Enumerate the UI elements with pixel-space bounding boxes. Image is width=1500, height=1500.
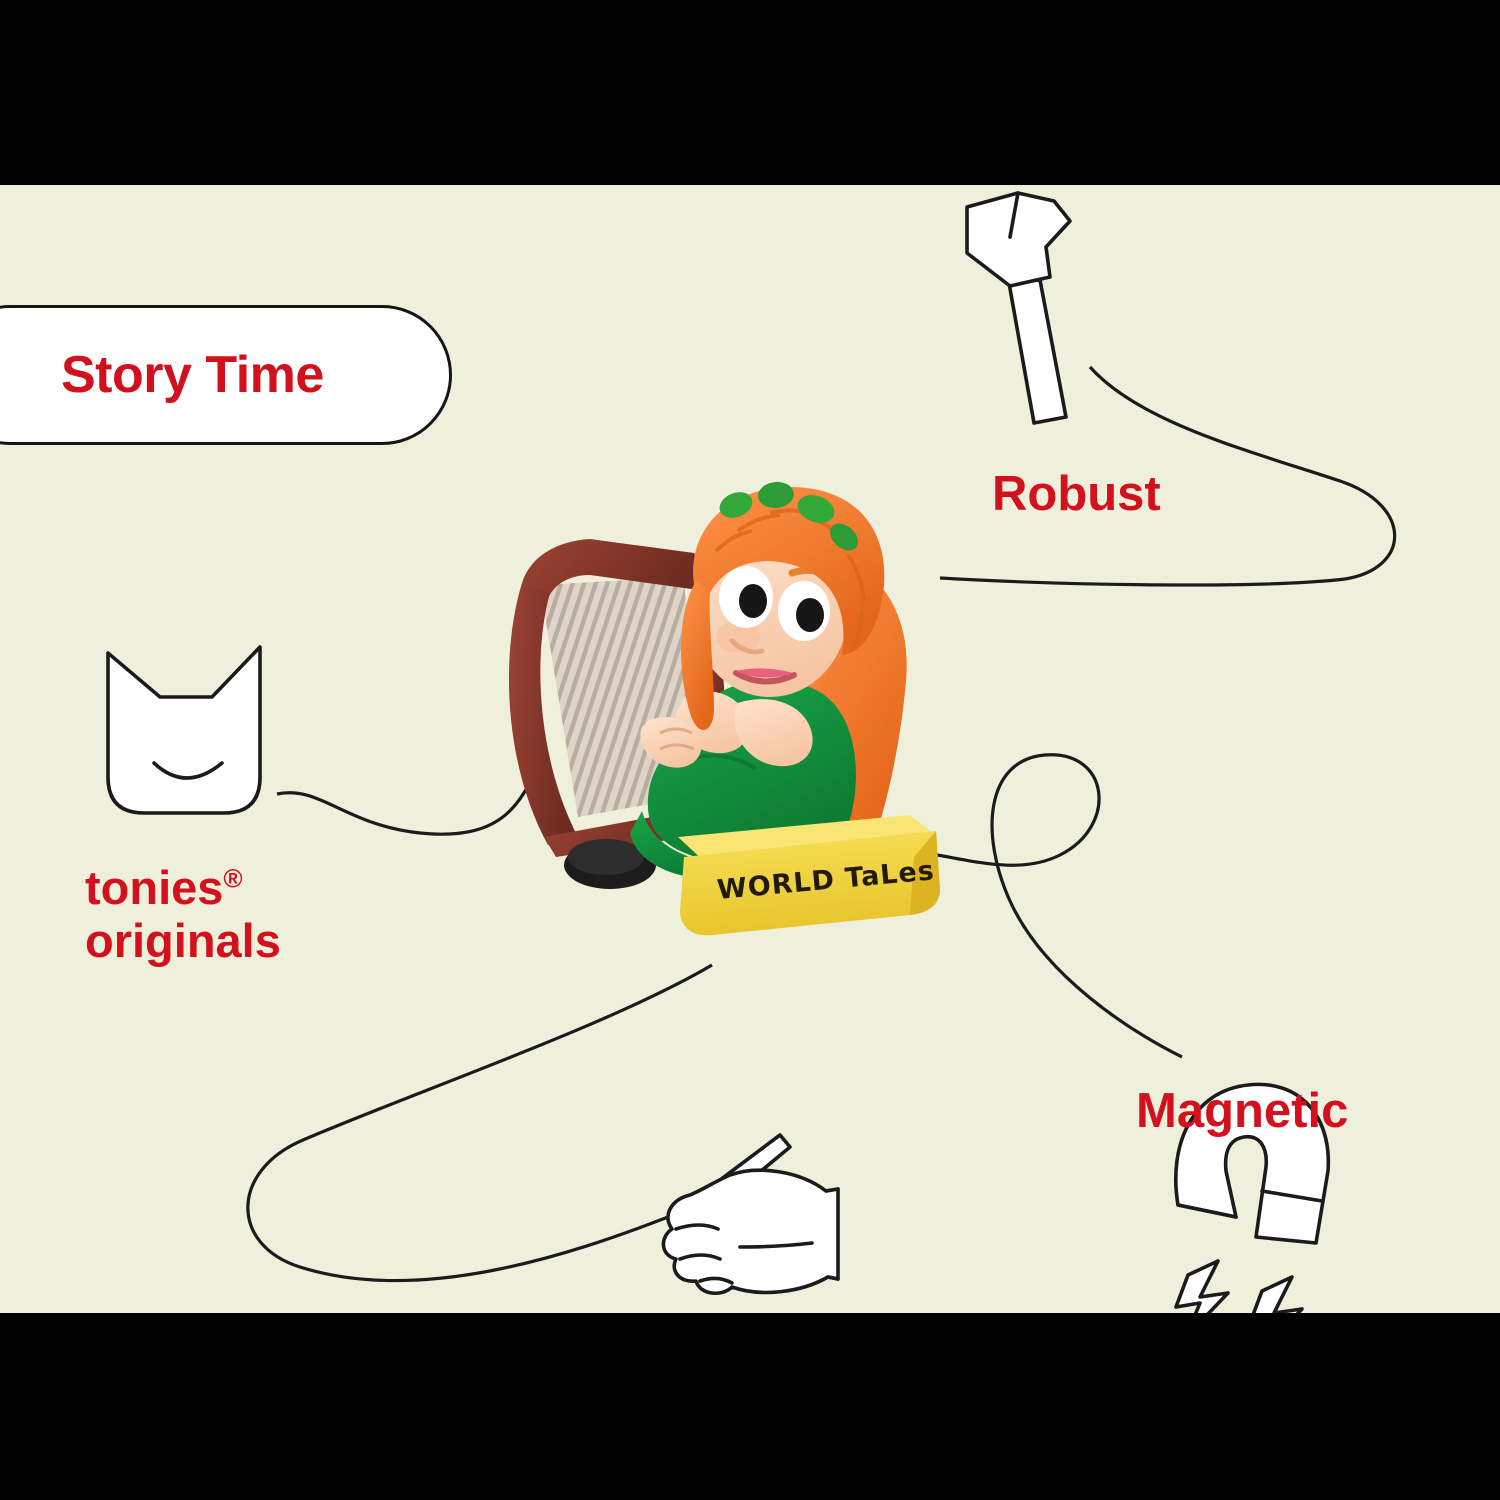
letterbox-bar-top [0,0,1500,185]
story-time-badge[interactable]: Story Time [0,305,452,445]
feature-label-magnetic: Magnetic [1136,1085,1348,1138]
content-canvas: WORLD TaLes Story Time Robust Magnetic H… [0,185,1500,1313]
tonies-originals-word: originals [85,915,281,968]
letterbox-bar-bottom [0,1313,1500,1500]
registered-trademark-icon: ® [223,863,242,893]
tonies-brand-word: tonies [85,861,223,914]
hammer-icon [967,193,1070,423]
story-time-badge-label: Story Time [61,345,324,405]
screenshot-stage: WORLD TaLes Story Time Robust Magnetic H… [0,0,1500,1500]
feature-label-tonies-originals: tonies® originals [85,862,281,967]
tonies-brand-line: tonies® [85,862,281,915]
hand-with-brush-icon [663,1135,838,1293]
tonies-cat-head-icon [108,647,260,813]
feature-label-robust: Robust [992,468,1161,521]
